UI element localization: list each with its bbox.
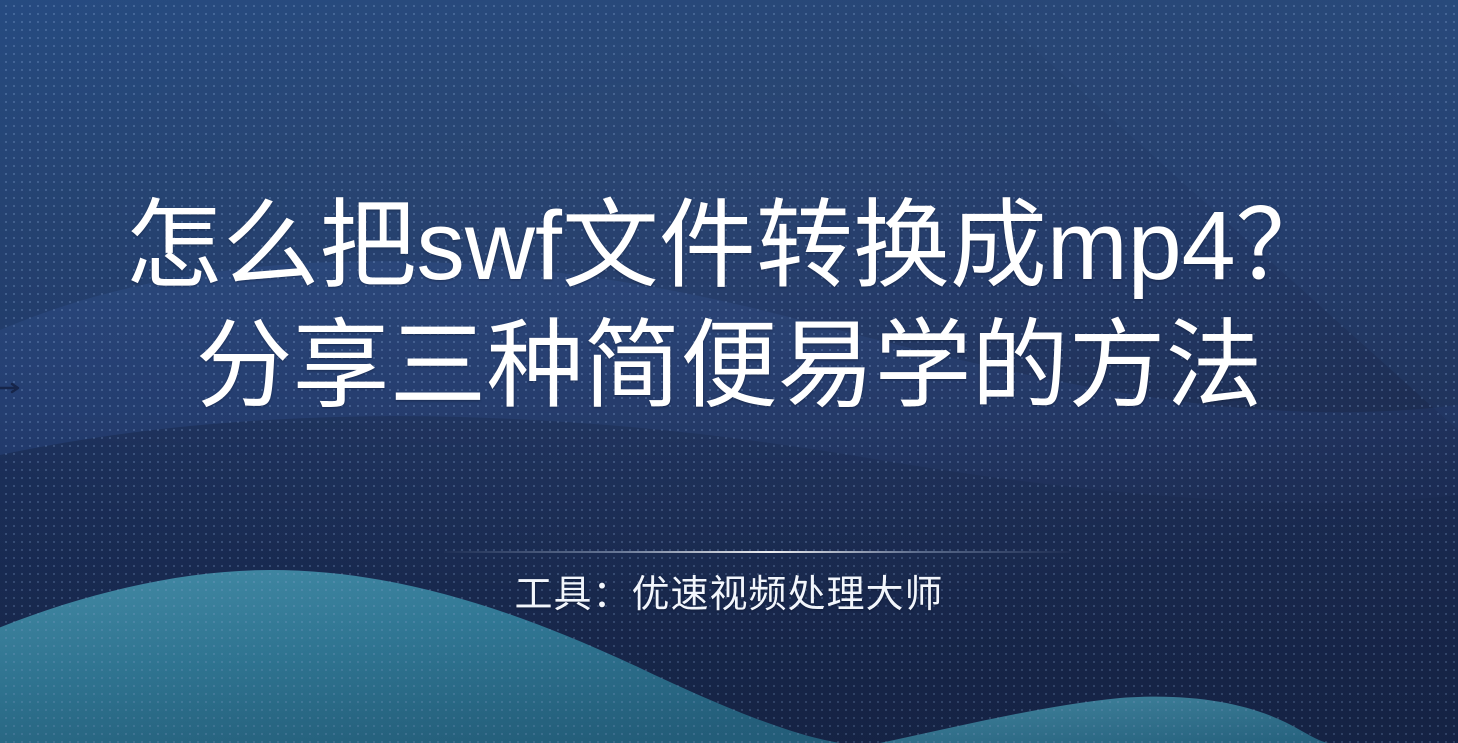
title-slide: 怎么把swf文件转换成mp4？ 分享三种简便易学的方法 工具：优速视频处理大师 xyxy=(0,0,1458,743)
slide-content: 怎么把swf文件转换成mp4？ 分享三种简便易学的方法 工具：优速视频处理大师 xyxy=(0,0,1458,743)
page-title: 怎么把swf文件转换成mp4？ 分享三种简便易学的方法 xyxy=(0,186,1458,427)
title-line-2: 分享三种简便易学的方法 xyxy=(0,306,1458,426)
title-divider xyxy=(444,551,1070,553)
title-line-1: 怎么把swf文件转换成mp4？ xyxy=(0,186,1458,306)
subtitle-tool-label: 工具：优速视频处理大师 xyxy=(0,571,1458,620)
